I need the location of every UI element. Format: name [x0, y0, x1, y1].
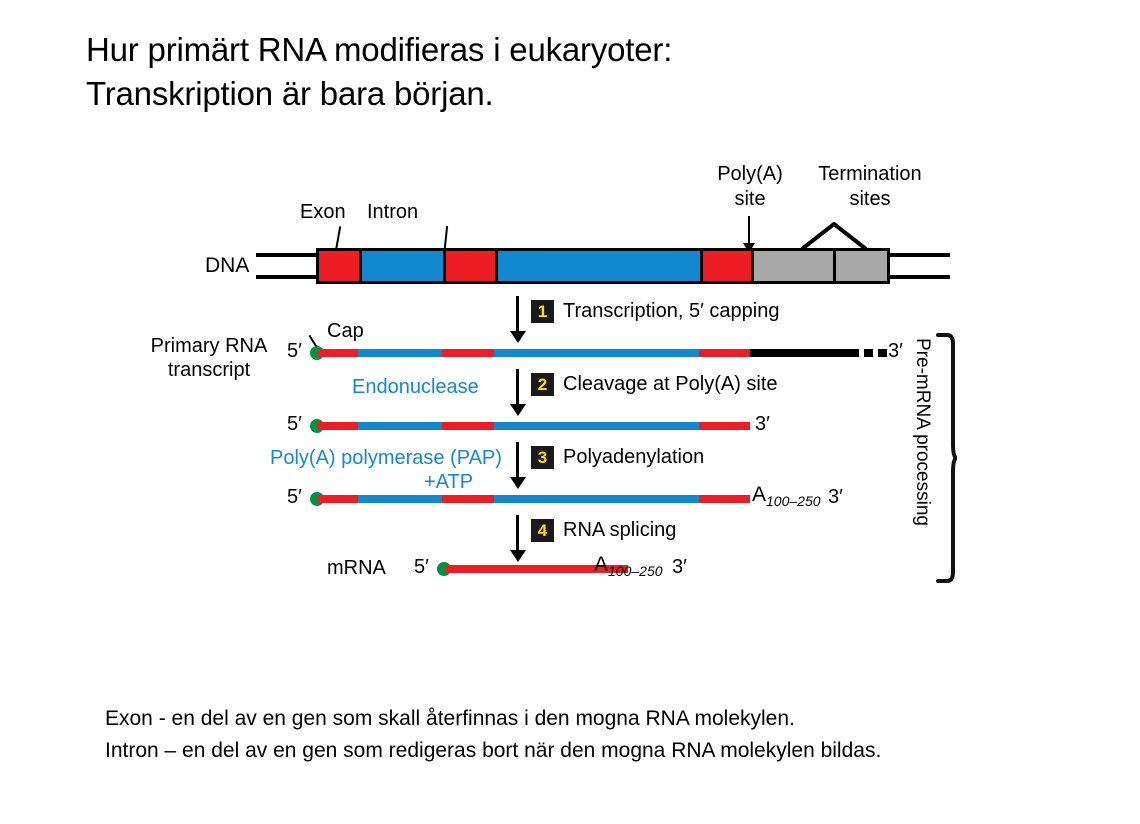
- dna-segment-exon: [443, 251, 495, 281]
- cleaved-rna-strand: [318, 422, 750, 430]
- rna-segment: [442, 422, 494, 430]
- polyadenylated-rna-3prime-label: 3′: [828, 486, 843, 509]
- page-title-line-1: Hur primärt RNA modifieras i eukaryoter:: [86, 28, 986, 72]
- caption-line-exon: Exon - en del av en gen som skall återfi…: [105, 703, 1085, 735]
- rna-segment: [318, 422, 358, 430]
- mrna-polya-tail: A100–250: [594, 553, 663, 579]
- step-3-badge: 3: [531, 446, 554, 469]
- step-2-enzyme-label: Endonuclease: [352, 375, 479, 399]
- cap-label: Cap: [327, 319, 364, 343]
- dash-square: [878, 349, 887, 357]
- pre-mrna-processing-label: Pre-mRNA processing: [911, 338, 933, 578]
- primary-rna-3prime-label: 3′: [888, 340, 903, 363]
- primary-rna-transcript-label-line-2: transcript: [168, 359, 250, 381]
- termination-sites-label-line-1: Termination: [818, 163, 921, 185]
- cleaved-rna-5prime-label: 5′: [287, 413, 302, 436]
- dna-segment-utr: [751, 251, 833, 281]
- polya-site-arrow-icon: [748, 216, 750, 244]
- cleaved-rna-3prime-label: 3′: [755, 413, 770, 436]
- termination-caret-icon: [800, 222, 868, 250]
- step-1-text: Transcription, 5′ capping: [563, 300, 779, 323]
- page-title: Hur primärt RNA modifieras i eukaryoter:…: [86, 28, 986, 116]
- dna-segment-utr: [833, 251, 887, 281]
- polyadenylated-rna-polya-tail: A100–250: [752, 483, 821, 509]
- primary-rna-transcript-label-line-1: Primary RNA: [151, 335, 268, 357]
- dna-gene-bar: [316, 248, 890, 284]
- step-1-badge: 1: [531, 300, 554, 323]
- rna-segment: [318, 349, 358, 357]
- step-4-arrow-icon: [516, 515, 519, 551]
- termination-sites-label: Termination sites: [795, 162, 945, 212]
- step-3-enzyme-label: Poly(A) polymerase (PAP): [270, 446, 502, 470]
- primary-rna-5prime-label: 5′: [287, 340, 302, 363]
- dna-row: DNA: [0, 248, 1140, 288]
- polyadenylated-rna-5prime-label: 5′: [287, 486, 302, 509]
- page-title-line-2: Transkription är bara början.: [86, 72, 986, 116]
- dna-label: DNA: [205, 254, 249, 278]
- primary-rna-transcript-label: Primary RNA transcript: [137, 334, 281, 382]
- step-2-arrow-icon: [516, 369, 519, 405]
- polya-site-label-line-1: Poly(A): [717, 163, 783, 185]
- polya-tail-base: A: [594, 553, 608, 576]
- rna-processing-diagram: Exon Intron Poly(A) site Termination sit…: [0, 150, 1140, 620]
- rna-segment: [750, 349, 850, 357]
- rna-segment: [699, 495, 750, 503]
- rna-segment: [442, 495, 494, 503]
- step-1-arrow-icon: [516, 296, 519, 332]
- step-2-text: Cleavage at Poly(A) site: [563, 373, 778, 396]
- exon-callout-label: Exon: [300, 200, 346, 224]
- polya-site-label-line-2: site: [734, 188, 765, 210]
- rna-segment: [442, 349, 494, 357]
- dna-tail-left: [256, 253, 318, 279]
- pre-mrna-processing-brace: [935, 332, 957, 584]
- primary-rna-dashed-tail: [836, 349, 887, 357]
- dna-segment-intron: [495, 251, 700, 281]
- definition-caption: Exon - en del av en gen som skall återfi…: [105, 703, 1085, 767]
- step-4-badge: 4: [531, 519, 554, 542]
- rna-segment: [699, 349, 750, 357]
- polya-tail-base: A: [752, 483, 766, 506]
- step-3-arrow-icon: [516, 442, 519, 478]
- intron-callout-label: Intron: [367, 200, 418, 224]
- rna-segment: [318, 495, 358, 503]
- polyadenylated-rna-strand: [318, 495, 750, 503]
- termination-sites-label-line-2: sites: [849, 188, 890, 210]
- polya-tail-length: 100–250: [766, 493, 821, 509]
- dash-square: [864, 349, 873, 357]
- step-3-text: Polyadenylation: [563, 446, 704, 469]
- step-2-badge: 2: [531, 373, 554, 396]
- dna-tail-right: [888, 253, 950, 279]
- rna-segment: [358, 495, 442, 503]
- polya-site-label: Poly(A) site: [700, 162, 800, 212]
- mrna-5prime-label: 5′: [414, 556, 429, 579]
- dna-segment-exon: [700, 251, 751, 281]
- rna-segment: [699, 422, 750, 430]
- dna-segment-exon: [319, 251, 359, 281]
- rna-segment: [494, 349, 699, 357]
- rna-segment: [358, 349, 442, 357]
- dash-square: [836, 349, 845, 357]
- mrna-label: mRNA: [327, 556, 386, 580]
- polya-tail-length: 100–250: [608, 563, 663, 579]
- rna-segment: [494, 422, 699, 430]
- rna-segment: [494, 495, 699, 503]
- dash-square: [850, 349, 859, 357]
- rna-segment: [358, 422, 442, 430]
- mrna-3prime-label: 3′: [672, 556, 687, 579]
- step-3-enzyme-cofactor-label: +ATP: [424, 470, 473, 494]
- step-4-text: RNA splicing: [563, 519, 676, 542]
- caption-line-intron: Intron – en del av en gen som redigeras …: [105, 735, 1085, 767]
- dna-segment-intron: [359, 251, 443, 281]
- primary-rna-strand: [318, 349, 850, 357]
